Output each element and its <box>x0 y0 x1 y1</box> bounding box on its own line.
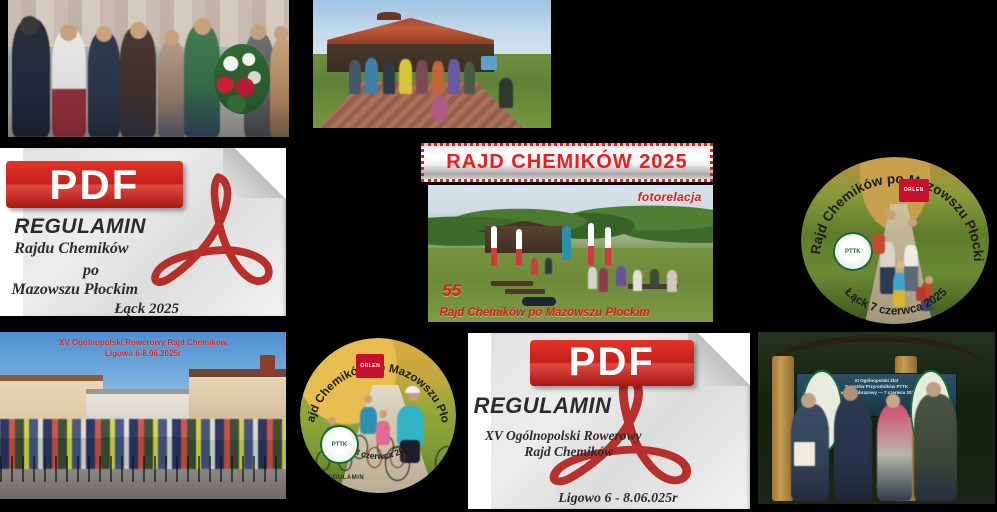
pdf-line-1: XV Ogólnopolski Rowerowy <box>485 428 642 444</box>
title-banner[interactable]: RAJD CHEMIKÓW 2025 <box>421 143 713 182</box>
photo-group-banner[interactable]: XI Ogólnopolski Zlot Turystów Przyrodnik… <box>758 332 995 504</box>
blue-bin <box>481 56 497 70</box>
photo-cyclists-start[interactable]: XV Ogólnopolski Rowerowy Rajd Chemików L… <box>0 332 286 499</box>
pdf-card-regulamin-lack[interactable]: PDF REGULAMIN Rajdu Chemików po Mazowszu… <box>0 148 286 316</box>
svg-text:55 Rajd Chemików po Mazowszu P: 55 Rajd Chemików po Mazowszu Płockim <box>801 157 986 262</box>
pdf-badge: PDF <box>530 340 694 386</box>
banner-people-layer <box>758 332 995 504</box>
pttk-logo: PTTK <box>833 232 873 271</box>
pttk-logo: PTTK <box>320 425 358 465</box>
fotorelacja-label: fotorelacja <box>638 190 702 204</box>
pdf-line-2: Rajd Chemików <box>524 444 613 460</box>
caption-line-1: XV Ogólnopolski Rowerowy Rajd Chemików <box>11 337 274 348</box>
badge-regulamin-label: REGULAMIN <box>323 475 364 481</box>
pdf-regulamin-label: REGULAMIN <box>14 215 146 239</box>
badge-arc-top-text: 55 Rajd Chemików po Mazowszu Płockim <box>801 157 986 262</box>
screenshot-canvas: PDF REGULAMIN Rajdu Chemików po Mazowszu… <box>0 0 997 512</box>
pdf-card-regulamin-ligowo[interactable]: PDF REGULAMIN XV Ogólnopolski Rowerowy R… <box>468 333 750 509</box>
caption-line-2: Ligowo 6-8.06.2025r <box>11 348 274 359</box>
pdf-badge: PDF <box>6 161 183 208</box>
badge-arc-text: 55 Rajd Chemików po Mazowszu Płockim Łąc… <box>801 157 989 324</box>
bicycle-wheels <box>0 456 286 483</box>
pdf-footer: Łąck 2025 <box>114 301 179 316</box>
badge-arc-top-text: XV Rajd Chemików po Mazowszu Płockim <box>300 338 452 424</box>
svg-text:XV Rajd Chemików po Mazowszu P: XV Rajd Chemików po Mazowszu Płockim <box>300 338 452 424</box>
pdf-line-3: Mazowszu Płockim <box>11 281 138 299</box>
badge-cyclists-cd[interactable]: XV Rajd Chemików po Mazowszu Płockim 6 -… <box>300 338 456 493</box>
badge-arc-bottom-text: Łąck 7 czerwca 2025 <box>842 285 950 318</box>
photo-fotorelacja[interactable]: fotorelacja 55 Rajd Chemików po Mazowszu… <box>428 185 713 322</box>
pdf-line-1: Rajdu Chemików <box>14 240 128 258</box>
photo-gazebo-group[interactable] <box>313 0 551 128</box>
orlen-logo: ORLEN <box>356 354 384 379</box>
photo-caption: XV Ogólnopolski Rowerowy Rajd Chemików L… <box>11 337 274 359</box>
badge-hikers-cd[interactable]: 55 Rajd Chemików po Mazowszu Płockim Łąc… <box>801 157 989 324</box>
wreath <box>214 44 270 114</box>
pdf-footer: Ligowo 6 - 8.06.025r <box>558 491 677 507</box>
orlen-logo: ORLEN <box>899 179 929 202</box>
pdf-regulamin-label: REGULAMIN <box>474 393 612 419</box>
pdf-corner-fold <box>688 333 750 386</box>
pdf-line-2: po <box>83 262 99 280</box>
rally-caption: Rajd Chemików po Mazowszu Płockim <box>439 307 704 319</box>
gazebo-people-layer <box>313 0 551 128</box>
held-paper <box>794 442 815 466</box>
foto-people-layer <box>428 185 713 322</box>
rally-number-55: 55 <box>442 281 461 301</box>
title-banner-text: RAJD CHEMIKÓW 2025 <box>446 151 687 174</box>
svg-text:Łąck 7 czerwca 2025: Łąck 7 czerwca 2025 <box>842 285 950 318</box>
photo-wreath-group[interactable] <box>8 0 289 137</box>
